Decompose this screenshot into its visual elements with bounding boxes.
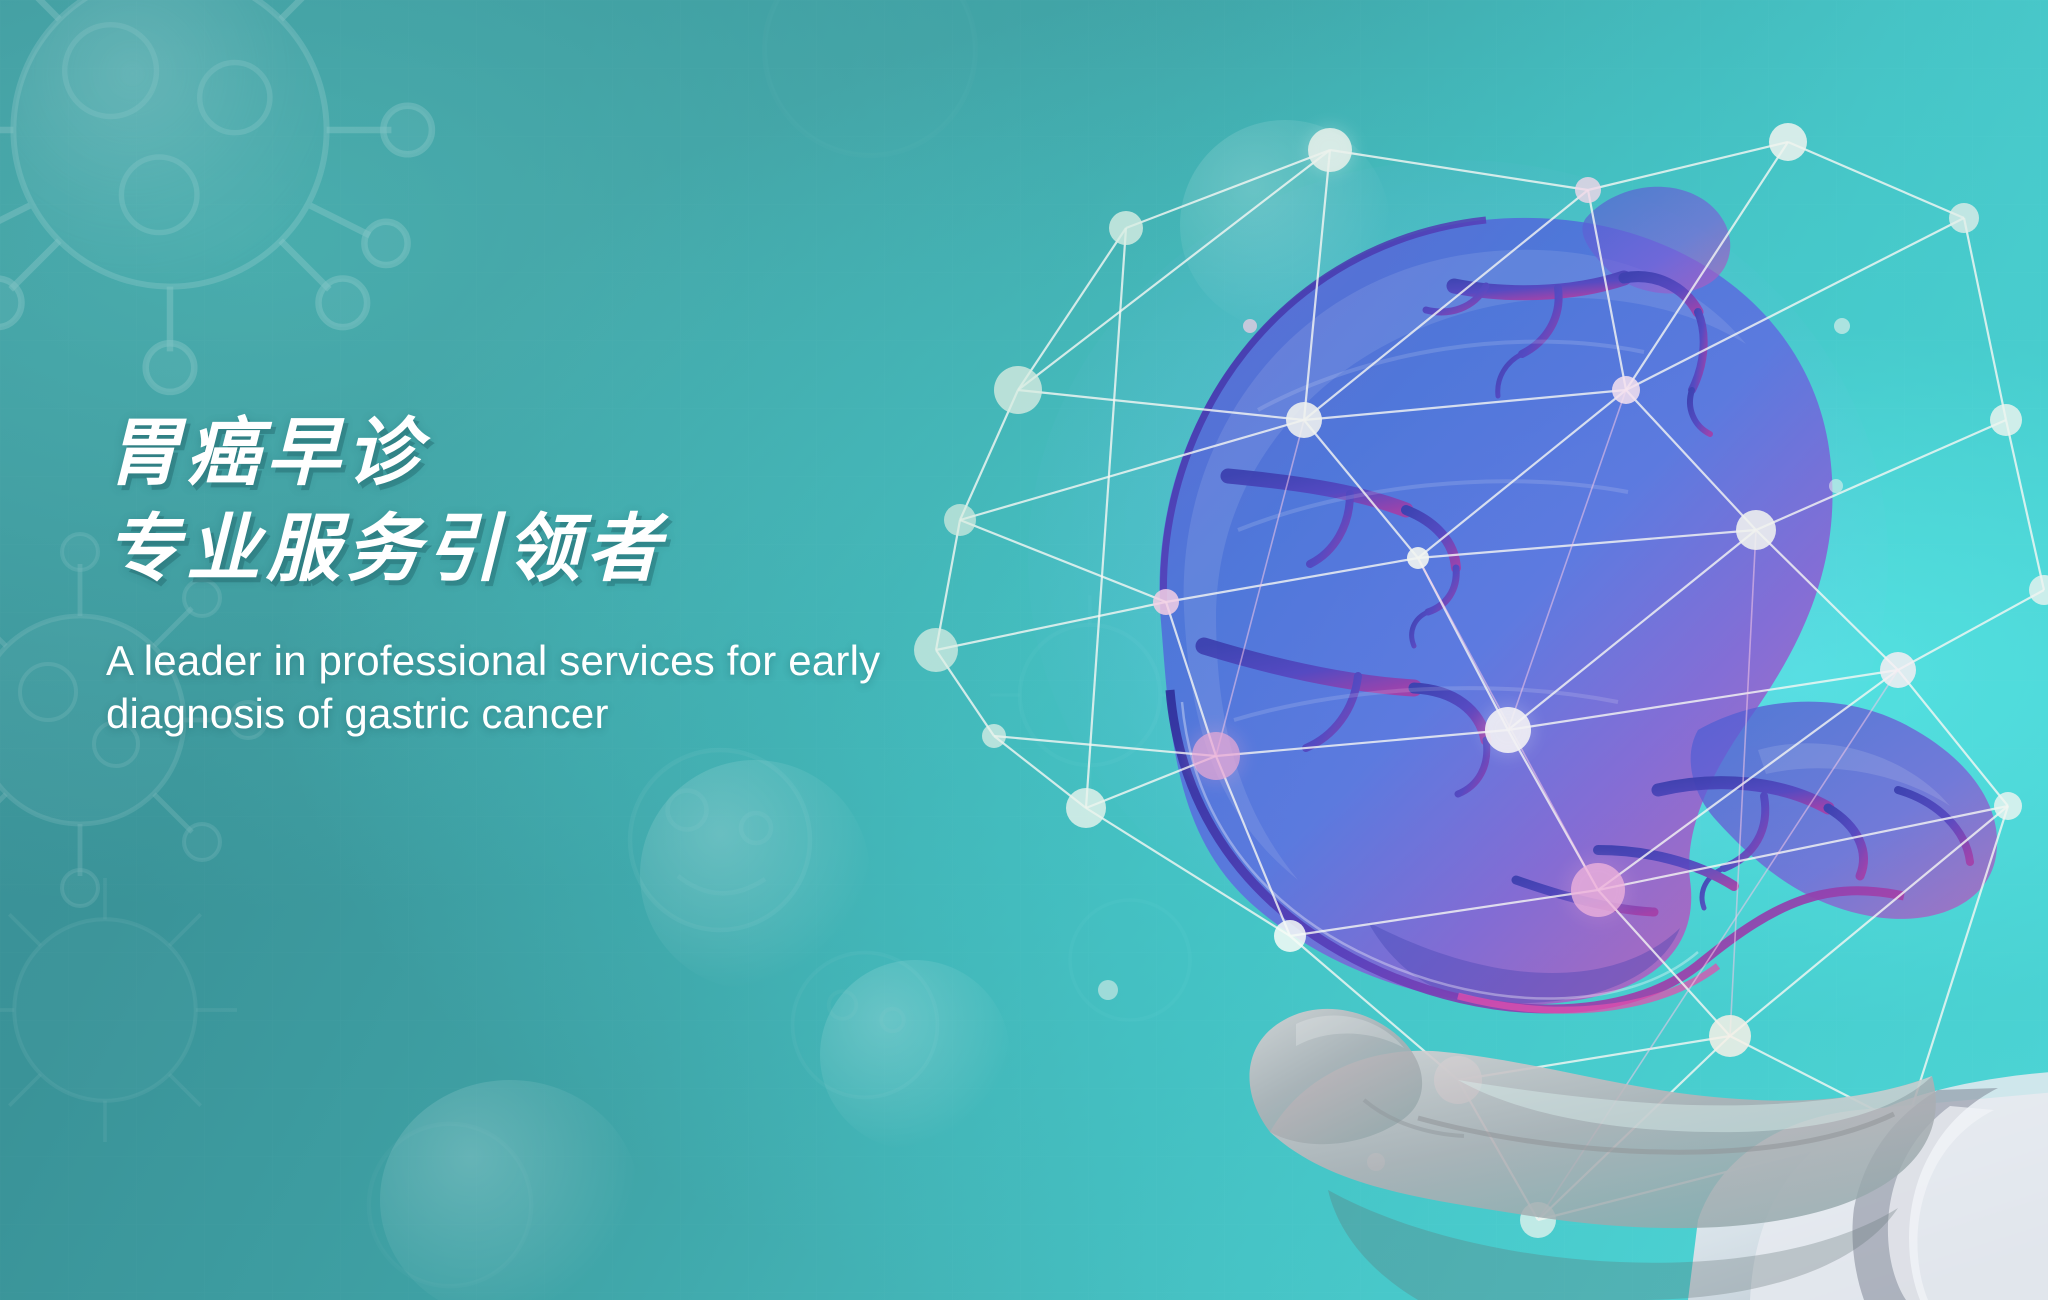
virus-cell-icon <box>300 1060 600 1300</box>
hand-and-sleeve <box>1249 1009 2048 1300</box>
virus-cell-icon <box>0 0 450 400</box>
headline-line-1: 胃癌早诊 <box>106 410 1156 496</box>
hero-banner: 胃癌早诊 专业服务引领者 A leader in professional se… <box>0 0 2048 1300</box>
hero-copy-block: 胃癌早诊 专业服务引领者 A leader in professional se… <box>106 410 1156 741</box>
bokeh-blob <box>640 760 870 990</box>
subtitle-line-1: A leader in professional services for ea… <box>106 634 926 688</box>
subtitle-block: A leader in professional services for ea… <box>106 634 926 742</box>
headline-line-2: 专业服务引领者 <box>106 506 1156 592</box>
virus-cell-icon <box>0 830 270 1190</box>
bokeh-blob <box>380 1080 640 1300</box>
subtitle-line-2: diagnosis of gastric cancer <box>106 687 926 741</box>
